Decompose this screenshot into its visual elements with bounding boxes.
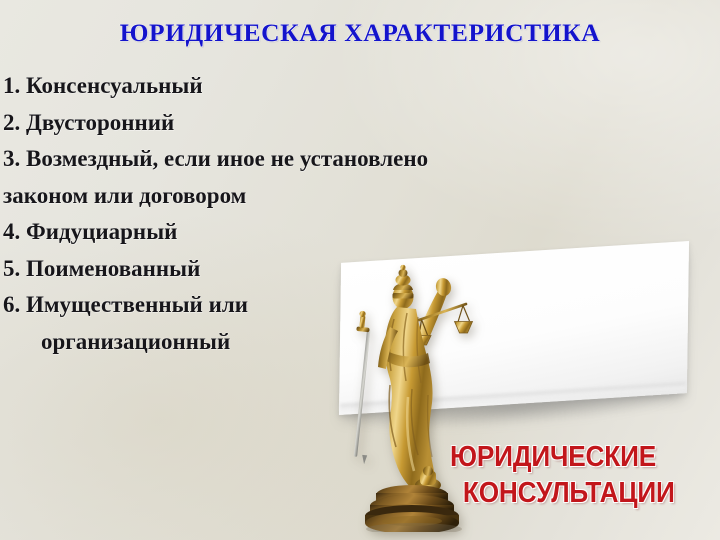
list-item: 3. Возмездный, если иное не установлено — [3, 141, 563, 178]
image-caption: ЮРИДИЧЕСКИЕ КОНСУЛЬТАЦИИ — [450, 439, 697, 511]
list-item: 4. Фидуциарный — [3, 214, 563, 251]
list-item-continuation: законом или договором — [3, 178, 563, 215]
list-item: 5. Поименованный — [3, 251, 563, 288]
caption-line-2: КОНСУЛЬТАЦИИ — [450, 475, 697, 511]
page-title: ЮРИДИЧЕСКАЯ ХАРАКТЕРИСТИКА — [0, 18, 720, 48]
list-item: 2. Двусторонний — [3, 105, 563, 142]
characteristics-list: 1. Консенсуальный 2. Двусторонний 3. Воз… — [3, 68, 563, 360]
list-item: 1. Консенсуальный — [3, 68, 563, 105]
list-item: 6. Имущественный или — [3, 287, 563, 324]
list-item-continuation: организационный — [3, 324, 563, 361]
slide-canvas: ЮРИДИЧЕСКАЯ ХАРАКТЕРИСТИКА 1. Консенсуал… — [0, 0, 720, 540]
caption-line-1: ЮРИДИЧЕСКИЕ — [450, 439, 697, 475]
